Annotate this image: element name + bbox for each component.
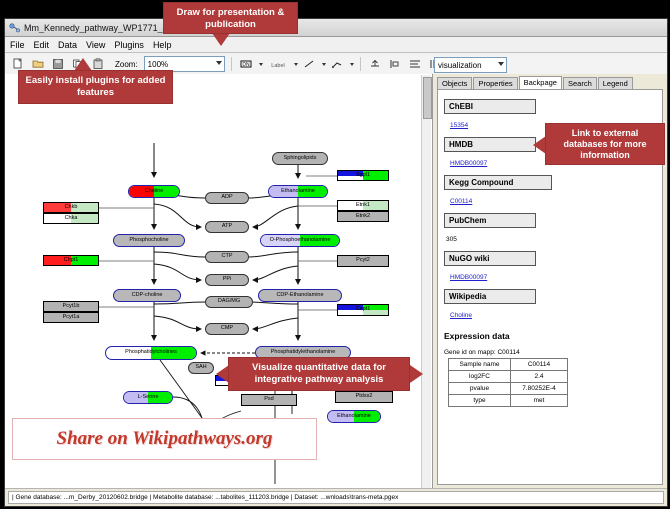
expression-data-heading: Expression data xyxy=(444,331,652,341)
chevron-down-icon xyxy=(216,61,222,65)
node-o-phosphoethanolamine[interactable]: O-Phosphoethanolamine xyxy=(260,234,340,247)
db-header-nugo-wiki: NuGO wiki xyxy=(444,251,536,266)
chevron-down-icon[interactable] xyxy=(350,63,354,66)
db-link-wikipedia[interactable]: Choline xyxy=(450,312,472,319)
zoom-label: Zoom: xyxy=(115,60,138,69)
node-pcyt2[interactable]: Pcyt2 xyxy=(337,255,389,267)
chevron-down-icon[interactable] xyxy=(259,63,263,66)
cell-value: C00114 xyxy=(511,359,568,371)
datanode-icon[interactable]: DN xyxy=(238,56,255,73)
node-ethanolamine-bottom[interactable]: Ethanolamine xyxy=(327,410,381,423)
cell-key: Sample name xyxy=(449,359,511,371)
cell-value: met xyxy=(511,395,568,407)
pathvisio-icon xyxy=(9,22,20,33)
callout-visualize: Visualize quantitative data for integrat… xyxy=(228,357,410,391)
cell-key: log2FC xyxy=(449,371,511,383)
node-cdp-choline[interactable]: CDP-choline xyxy=(113,289,181,302)
node-pcyt1b[interactable]: Pcyt1b xyxy=(43,301,99,312)
node-ethanolamine-top[interactable]: Ethanolamine xyxy=(268,185,328,198)
menu-item-help[interactable]: Help xyxy=(153,40,172,50)
menu-item-view[interactable]: View xyxy=(86,40,105,50)
align-left-icon[interactable] xyxy=(387,56,404,73)
svg-text:Label: Label xyxy=(271,63,284,69)
tab-properties[interactable]: Properties xyxy=(473,77,517,89)
db-value-pubchem: 305 xyxy=(446,236,457,243)
db-header-hmdb: HMDB xyxy=(444,137,536,152)
callout-plugins: Easily install plugins for added feature… xyxy=(18,70,173,104)
toolbar-separator xyxy=(231,57,232,71)
cell-key: pvalue xyxy=(449,383,511,395)
node-choline-top[interactable]: Choline xyxy=(128,185,180,198)
interaction-icon[interactable] xyxy=(329,56,346,73)
table-row: log2FC 2.4 xyxy=(449,371,568,383)
node-cmp[interactable]: CMP xyxy=(205,323,249,335)
menu-item-data[interactable]: Data xyxy=(58,40,77,50)
node-l-serine-left[interactable]: L-Serine xyxy=(123,391,173,404)
db-link-chebi[interactable]: 15354 xyxy=(450,122,468,129)
callout-links: Link to external databases for more info… xyxy=(545,123,665,165)
status-text: | Gene database: ...m_Derby_20120602.bri… xyxy=(8,491,664,504)
tab-backpage[interactable]: Backpage xyxy=(519,76,562,89)
db-header-wikipedia: Wikipedia xyxy=(444,289,536,304)
node-dag-mg[interactable]: DAG/MG xyxy=(205,296,253,308)
callout-draw-tail xyxy=(212,33,230,46)
gene-id-on-mapp: Gene id on mapp: C00114 xyxy=(444,349,652,356)
node-sah[interactable]: SAH xyxy=(188,362,214,374)
screenshot-root: Mm_Kennedy_pathway_WP1771_45176.gpml Fil… xyxy=(0,0,670,509)
menu-bar: File Edit Data View Plugins Help xyxy=(5,37,667,53)
label-icon[interactable]: Label xyxy=(266,56,290,73)
tab-legend[interactable]: Legend xyxy=(598,77,633,89)
tab-search[interactable]: Search xyxy=(563,77,597,89)
callout-visualize-tail-right xyxy=(410,365,423,383)
db-header-kegg-compound: Kegg Compound xyxy=(444,175,552,190)
db-link-hmdb[interactable]: HMDB00097 xyxy=(450,160,487,167)
svg-text:DN: DN xyxy=(243,62,251,68)
title-bar: Mm_Kennedy_pathway_WP1771_45176.gpml xyxy=(5,19,667,37)
canvas-scrollbar-thumb[interactable] xyxy=(423,77,432,119)
chevron-down-icon xyxy=(498,62,504,66)
node-phosphocholine[interactable]: Phosphocholine xyxy=(113,234,185,247)
table-row: pvalue 7.80252E-4 xyxy=(449,383,568,395)
db-header-pubchem: PubChem xyxy=(444,213,536,228)
visualization-value: visualization xyxy=(438,61,482,70)
menu-item-edit[interactable]: Edit xyxy=(34,40,50,50)
table-row: type met xyxy=(449,395,568,407)
node-chka[interactable]: Chka xyxy=(43,213,99,224)
align-rows-icon[interactable] xyxy=(407,56,424,73)
node-chkb[interactable]: Chkb xyxy=(43,202,99,213)
node-cdp-ethanolamine[interactable]: CDP-Ethanolamine xyxy=(258,289,342,302)
align-top-icon[interactable] xyxy=(367,56,384,73)
callout-draw: Draw for presentation & publication xyxy=(163,2,298,34)
node-cept1[interactable]: Cept1 xyxy=(337,304,389,316)
menu-item-plugins[interactable]: Plugins xyxy=(114,40,144,50)
side-panel-tabs: Objects Properties Backpage Search Legen… xyxy=(437,76,663,89)
node-ppi[interactable]: PPi xyxy=(205,274,249,286)
node-atp[interactable]: ATP xyxy=(205,221,249,233)
canvas-vertical-scrollbar[interactable] xyxy=(421,75,431,488)
status-bar: | Gene database: ...m_Derby_20120602.bri… xyxy=(5,488,667,506)
node-sgpl1[interactable]: Sgpl1 xyxy=(337,170,389,181)
expression-data-table: Sample name C00114 log2FC 2.4 pvalue 7.8… xyxy=(448,358,568,407)
node-etnk2[interactable]: Etnk2 xyxy=(337,211,389,222)
table-row: Sample name C00114 xyxy=(449,359,568,371)
cell-value: 7.80252E-4 xyxy=(511,383,568,395)
node-adp[interactable]: ADP xyxy=(205,192,249,204)
node-chpt1[interactable]: Chpt1 xyxy=(43,255,99,266)
visualization-combobox[interactable]: visualization xyxy=(434,57,507,73)
db-link-nugo-wiki[interactable]: HMDB00097 xyxy=(450,274,487,281)
chevron-down-icon[interactable] xyxy=(294,63,298,66)
tab-objects[interactable]: Objects xyxy=(437,77,472,89)
node-psd[interactable]: Psd xyxy=(241,394,297,406)
toolbar-separator xyxy=(360,57,361,71)
db-header-chebi: ChEBI xyxy=(444,99,536,114)
node-ctp[interactable]: CTP xyxy=(205,251,249,263)
node-etnk1[interactable]: Etnk1 xyxy=(337,200,389,211)
node-phosphatidylcholines[interactable]: Phosphatidylcholines xyxy=(105,346,197,360)
line-icon[interactable] xyxy=(301,56,318,73)
zoom-value: 100% xyxy=(148,60,168,69)
cell-key: type xyxy=(449,395,511,407)
node-sphingolipids[interactable]: Sphingolipids xyxy=(272,152,328,165)
chevron-down-icon[interactable] xyxy=(322,63,326,66)
node-pcyt1a[interactable]: Pcyt1a xyxy=(43,312,99,323)
db-link-kegg-compound[interactable]: C00114 xyxy=(450,198,472,205)
node-ptdss2[interactable]: Ptdss2 xyxy=(335,391,393,403)
callout-share: Share on Wikipathways.org xyxy=(12,418,317,460)
menu-item-file[interactable]: File xyxy=(10,40,25,50)
cell-value: 2.4 xyxy=(511,371,568,383)
